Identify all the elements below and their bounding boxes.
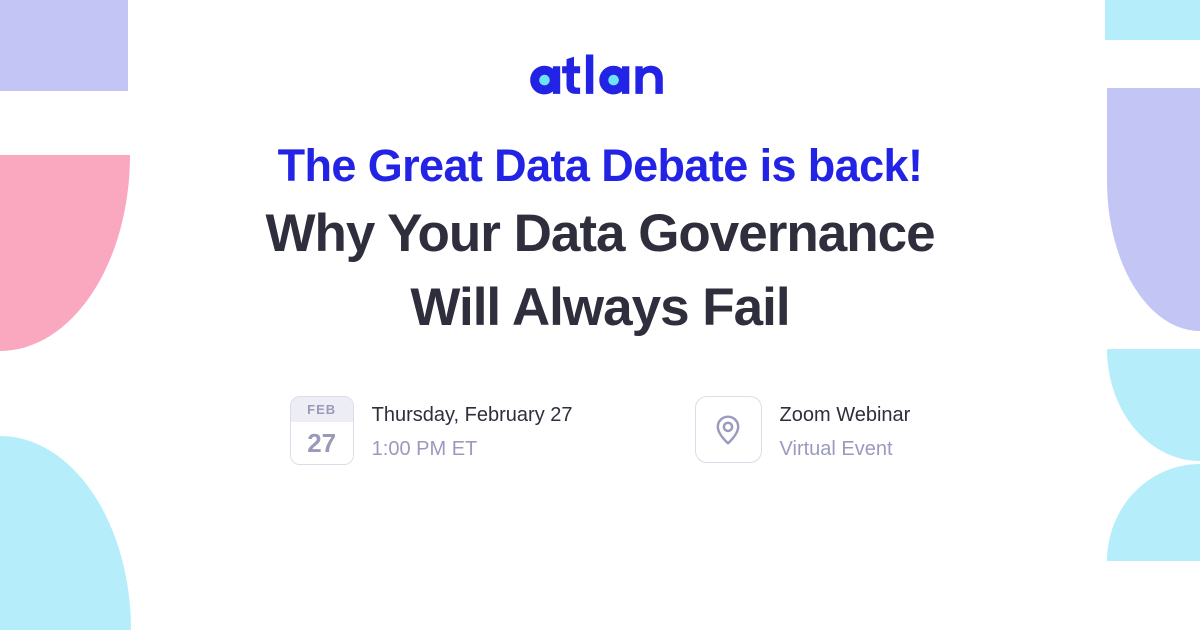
headline-block: The Great Data Debate is back! Why Your … [0, 135, 1200, 345]
headline-line-2: Why Your Data Governance [0, 197, 1200, 271]
atlan-logo-icon [527, 49, 673, 105]
event-location-primary: Zoom Webinar [780, 400, 911, 430]
map-pin-badge [695, 396, 762, 463]
atlan-logo [527, 49, 673, 105]
event-location-secondary: Virtual Event [780, 434, 911, 464]
headline-line-1: The Great Data Debate is back! [0, 135, 1200, 197]
content-container: The Great Data Debate is back! Why Your … [0, 0, 1200, 630]
map-pin-icon [711, 413, 745, 447]
calendar-day-label: 27 [291, 422, 353, 464]
event-location-item: Zoom Webinar Virtual Event [695, 396, 911, 464]
event-location-text: Zoom Webinar Virtual Event [780, 396, 911, 464]
calendar-icon: FEB 27 [290, 396, 354, 465]
event-date-item: FEB 27 Thursday, February 27 1:00 PM ET [290, 396, 573, 465]
event-meta-row: FEB 27 Thursday, February 27 1:00 PM ET … [290, 396, 911, 465]
headline-line-3: Will Always Fail [0, 271, 1200, 345]
calendar-month-label: FEB [291, 397, 353, 422]
event-date-primary: Thursday, February 27 [372, 400, 573, 430]
event-date-text: Thursday, February 27 1:00 PM ET [372, 396, 573, 464]
event-time-secondary: 1:00 PM ET [372, 434, 573, 464]
webinar-promo-card: The Great Data Debate is back! Why Your … [0, 0, 1200, 630]
